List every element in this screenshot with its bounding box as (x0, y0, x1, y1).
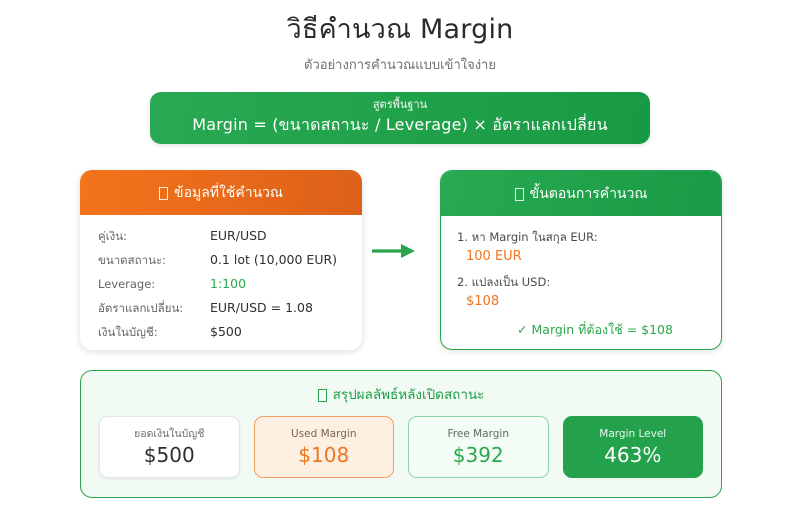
summary-box-used-margin: Used Margin $108 (254, 416, 395, 478)
summary-boxes: ยอดเงินในบัญชี $500 Used Margin $108 Fre… (99, 416, 703, 478)
inputs-card: ข้อมูลที่ใช้คำนวณ คู่เงิน: EUR/USD ขนาดส… (80, 170, 362, 350)
summary-box-margin-level: Margin Level 463% (563, 416, 704, 478)
inputs-card-title: ข้อมูลที่ใช้คำนวณ (174, 182, 283, 204)
calculation-step-2: 2. แปลงเป็น USD: $108 (457, 275, 705, 309)
summary-box-label: ยอดเงินในบัญชี (134, 428, 204, 441)
inputs-card-body: คู่เงิน: EUR/USD ขนาดสถานะ: 0.1 lot (10,… (80, 215, 362, 350)
input-row-label: เงินในบัญชี: (98, 324, 210, 342)
input-row-label: คู่เงิน: (98, 228, 210, 246)
steps-card-body: 1. หา Margin ในสกุล EUR: 100 EUR 2. แปลง… (441, 216, 721, 350)
step-title: 2. แปลงเป็น USD: (457, 275, 705, 290)
input-row-value: 1:100 (210, 276, 246, 291)
input-row-exchange-rate: อัตราแลกเปลี่ยน: EUR/USD = 1.08 (98, 300, 344, 324)
summary-box-label: Margin Level (599, 428, 666, 441)
step-result: $108 (466, 294, 705, 309)
step-title: 1. หา Margin ในสกุล EUR: (457, 230, 705, 245)
summary-box-label: Used Margin (291, 428, 356, 441)
missing-glyph-box-icon (318, 389, 327, 402)
summary-box-free-margin: Free Margin $392 (408, 416, 549, 478)
inputs-card-header: ข้อมูลที่ใช้คำนวณ (80, 170, 362, 215)
summary-box-value: $500 (144, 444, 195, 466)
formula-expression: Margin = (ขนาดสถานะ / Leverage) × อัตราแ… (192, 113, 608, 138)
steps-card-header: ขั้นตอนการคำนวณ (441, 171, 721, 216)
input-row-value: $500 (210, 324, 242, 339)
formula-banner: สูตรพื้นฐาน Margin = (ขนาดสถานะ / Levera… (150, 92, 650, 144)
page-title: วิธีคำนวณ Margin (0, 12, 800, 47)
missing-glyph-box-icon (515, 188, 524, 201)
summary-panel: สรุปผลลัพธ์หลังเปิดสถานะ ยอดเงินในบัญชี … (80, 370, 722, 498)
input-row-leverage: Leverage: 1:100 (98, 276, 344, 300)
steps-card: ขั้นตอนการคำนวณ 1. หา Margin ในสกุล EUR:… (440, 170, 722, 350)
summary-title-text: สรุปผลลัพธ์หลังเปิดสถานะ (333, 383, 485, 405)
missing-glyph-box-icon (159, 187, 168, 200)
formula-caption: สูตรพื้นฐาน (373, 98, 427, 111)
final-margin-result: ✓ Margin ที่ต้องใช้ = $108 (457, 320, 705, 340)
step-result: 100 EUR (466, 249, 705, 264)
input-row-account-balance: เงินในบัญชี: $500 (98, 324, 344, 348)
summary-box-account-balance: ยอดเงินในบัญชี $500 (99, 416, 240, 478)
input-row-value: EUR/USD (210, 228, 267, 243)
summary-title: สรุปผลลัพธ์หลังเปิดสถานะ (99, 383, 703, 405)
input-row-currency-pair: คู่เงิน: EUR/USD (98, 228, 344, 252)
arrow-right-icon (370, 240, 422, 262)
input-row-value: EUR/USD = 1.08 (210, 300, 313, 315)
steps-card-title: ขั้นตอนการคำนวณ (530, 183, 648, 205)
header: วิธีคำนวณ Margin ตัวอย่างการคำนวณแบบเข้า… (0, 0, 800, 75)
margin-calculation-infographic: วิธีคำนวณ Margin ตัวอย่างการคำนวณแบบเข้า… (0, 0, 800, 520)
page-subtitle: ตัวอย่างการคำนวณแบบเข้าใจง่าย (0, 54, 800, 75)
summary-box-value: $392 (453, 444, 504, 466)
summary-box-label: Free Margin (448, 428, 509, 441)
calculation-step-1: 1. หา Margin ในสกุล EUR: 100 EUR (457, 230, 705, 264)
summary-box-value: $108 (298, 444, 349, 466)
input-row-label: Leverage: (98, 277, 210, 291)
input-row-value: 0.1 lot (10,000 EUR) (210, 252, 337, 267)
input-row-label: ขนาดสถานะ: (98, 252, 210, 270)
input-row-position-size: ขนาดสถานะ: 0.1 lot (10,000 EUR) (98, 252, 344, 276)
summary-box-value: 463% (604, 444, 661, 466)
input-row-label: อัตราแลกเปลี่ยน: (98, 300, 210, 318)
